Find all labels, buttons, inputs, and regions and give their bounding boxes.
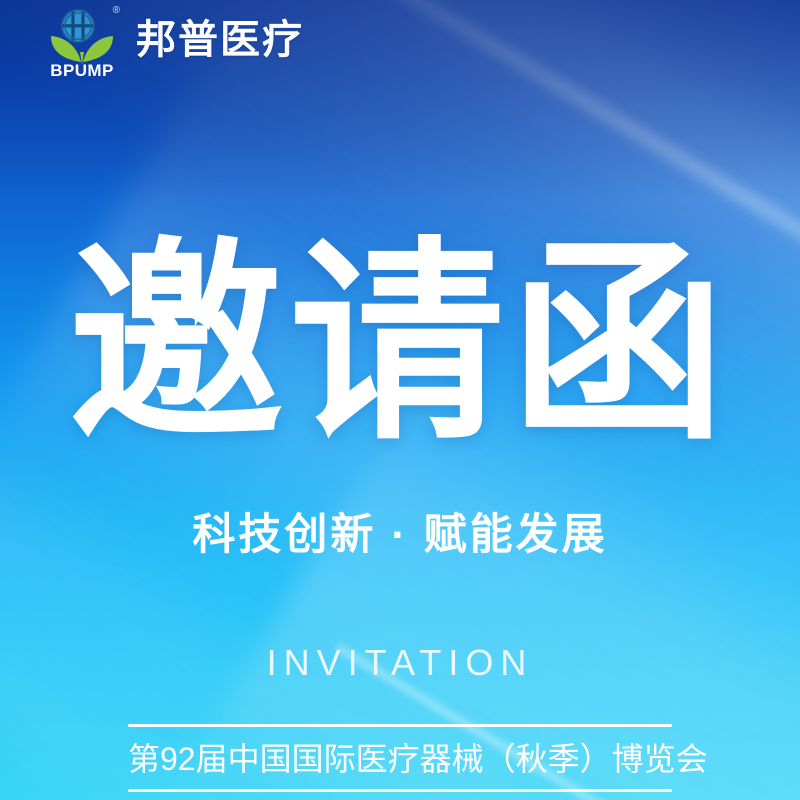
company-name: 邦普医疗 [136, 20, 304, 60]
company-logo: ® BPUMP [46, 6, 118, 88]
event-name: 第92届中国国际医疗器械（秋季）博览会 [128, 727, 672, 789]
subtitle-tagline: 科技创新 · 赋能发展 [0, 510, 800, 562]
page-title: 邀请函 [0, 236, 800, 451]
divider-bottom [128, 789, 672, 792]
invitation-english-label: INVITATION [0, 645, 800, 681]
invitation-poster: ® BPUMP 邦普医疗 邀请函 科技创新 · 赋能发展 INVITATION … [0, 0, 800, 800]
brand-lockup: ® BPUMP 邦普医疗 [46, 6, 304, 88]
divider-top [128, 724, 672, 727]
event-footer: 第92届中国国际医疗器械（秋季）博览会 [128, 724, 672, 792]
registered-trademark-icon: ® [113, 6, 120, 16]
logo-wordmark: BPUMP [46, 62, 118, 79]
